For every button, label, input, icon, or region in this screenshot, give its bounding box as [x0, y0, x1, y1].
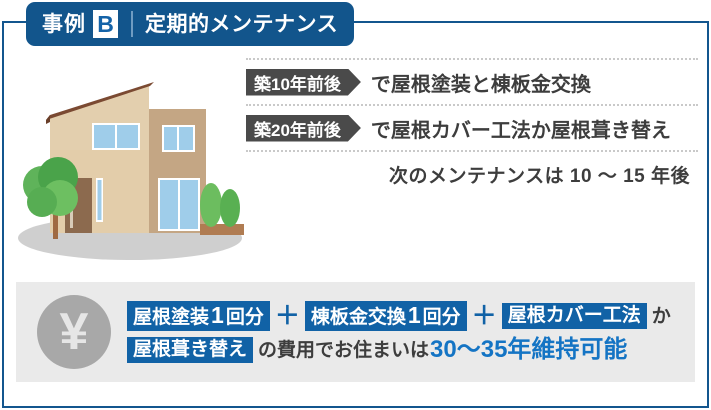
wing-large-pane-left: [160, 180, 178, 229]
timeline-text-1: で屋根塗装と棟板金交換: [371, 68, 591, 97]
chip-roof-painting-unit: 回分: [226, 308, 264, 327]
plus-sign-1: ＋: [270, 304, 305, 329]
cost-summary-panel: ¥ 屋根塗装1回分 ＋ 棟板金交換1回分 ＋ 屋根カバー工法 か 屋根葺き替え …: [16, 282, 695, 382]
chip-roof-cover-method: 屋根カバー工法: [502, 303, 647, 329]
case-badge-title: 定期的メンテナンス: [145, 14, 338, 35]
timeline-row-1: 築10年前後 で屋根塗装と棟板金交換: [246, 60, 698, 104]
next-maintenance-text: 次のメンテナンスは 10 〜 15 年後: [389, 161, 698, 188]
roof-edge: [46, 115, 50, 124]
infographic-root: 事例 B 定期的メンテナンス: [0, 0, 711, 410]
chip-ridge-plate-count: 1: [406, 304, 423, 327]
wing-large-pane-right: [180, 180, 198, 229]
case-badge-label: 事例: [42, 14, 86, 35]
cost-line-1-tail: か: [647, 307, 671, 326]
wing-upper-pane-left: [164, 127, 177, 150]
planter-box: [200, 224, 244, 235]
cost-line-2-plain: の費用でお住まいは: [253, 341, 429, 360]
plus-sign-2: ＋: [467, 304, 502, 329]
case-letter: B: [97, 13, 114, 36]
cost-line-2: 屋根葺き替え の費用でお住まいは 30〜35年維持可能: [127, 337, 671, 363]
wing-upper-pane-right: [179, 127, 193, 150]
upper-window-pane-right: [117, 125, 138, 148]
upper-window-pane-left: [94, 125, 115, 148]
timeline-row-2: 築20年前後 で屋根カバー工法か屋根葺き替え: [246, 106, 698, 150]
case-letter-box: B: [93, 10, 118, 38]
chip-roof-painting-label: 屋根塗装: [133, 308, 209, 327]
age-tag-10y: 築10年前後: [246, 69, 361, 96]
tree-foliage-bottom: [27, 187, 57, 217]
sidelight-window-pane: [98, 180, 102, 220]
timeline-text-2: で屋根カバー工法か屋根葺き替え: [371, 114, 671, 143]
house-illustration: [10, 52, 250, 274]
chip-ridge-plate: 棟板金交換1回分: [305, 301, 467, 331]
yen-icon: ¥: [37, 295, 111, 369]
chip-roof-replacement: 屋根葺き替え: [127, 337, 253, 363]
maintenance-timeline: 築10年前後 で屋根塗装と棟板金交換 築20年前後 で屋根カバー工法か屋根葺き替…: [246, 58, 698, 196]
cost-summary-text: 屋根塗装1回分 ＋ 棟板金交換1回分 ＋ 屋根カバー工法 か 屋根葺き替え の費…: [127, 301, 671, 363]
chip-ridge-plate-unit: 回分: [423, 308, 461, 327]
shrub-left: [200, 183, 222, 227]
age-tag-20y: 築20年前後: [246, 115, 361, 142]
cost-line-1: 屋根塗装1回分 ＋ 棟板金交換1回分 ＋ 屋根カバー工法 か: [127, 301, 671, 331]
badge-divider: [131, 11, 133, 37]
case-badge: 事例 B 定期的メンテナンス: [26, 2, 354, 46]
cost-line-2-highlight: 30〜35年維持可能: [429, 338, 627, 362]
chip-roof-painting-count: 1: [209, 304, 226, 327]
chip-ridge-plate-label: 棟板金交換: [311, 308, 406, 327]
timeline-row-3: 次のメンテナンスは 10 〜 15 年後: [246, 152, 698, 196]
yen-symbol: ¥: [60, 306, 89, 358]
chip-roof-painting: 屋根塗装1回分: [127, 301, 270, 331]
shrub-right: [220, 189, 240, 227]
